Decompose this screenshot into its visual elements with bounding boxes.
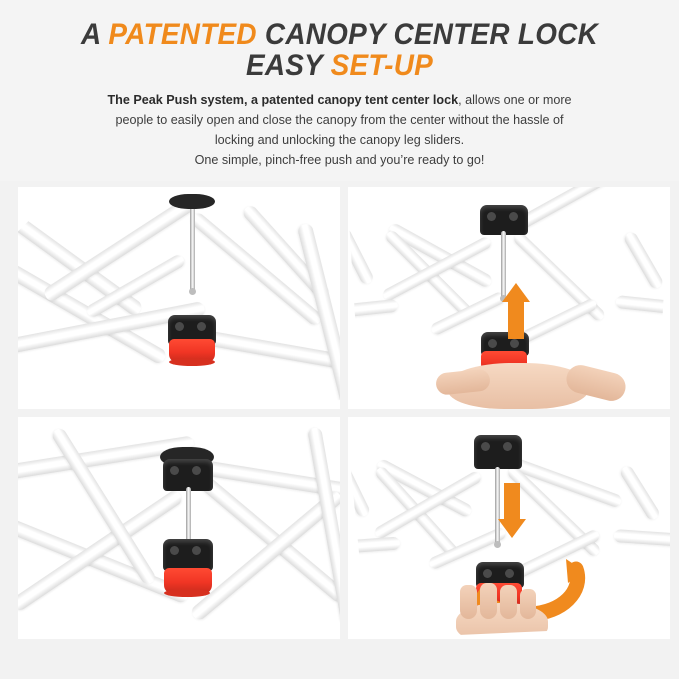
product-photo-grid [0, 181, 679, 679]
page-title: A PATENTED CANOPY CENTER LOCK EASY SET-U… [24, 0, 655, 81]
canopy-frame-scene-3 [18, 417, 340, 639]
hand-finger [460, 585, 477, 619]
headline-line1-highlight: PATENTED [108, 18, 256, 51]
frame-tube [429, 291, 506, 337]
description-line-2: people to easily open and close the cano… [38, 110, 641, 130]
canopy-frame-scene-2 [348, 187, 670, 409]
headline-line1-part1: A [81, 18, 108, 51]
headline-line2-part1: EASY [246, 49, 331, 82]
arrow-up-icon [502, 283, 542, 339]
description-bold-lead: The Peak Push system, a patented canopy … [107, 93, 458, 107]
description-line1-rest: , allows one or more [458, 93, 571, 107]
headline-line1-part2: CANOPY CENTER LOCK [257, 18, 598, 51]
pole-top-cap [169, 194, 215, 209]
frame-tube [348, 537, 400, 554]
panel-bottom-left-photo [18, 417, 340, 639]
hand-finger [520, 589, 536, 619]
panel-top-right-photo [348, 187, 670, 409]
canopy-frame-scene-1 [18, 187, 340, 409]
panel-bottom-left [18, 417, 340, 639]
description-line-1: The Peak Push system, a patented canopy … [38, 90, 641, 110]
panel-top-right [348, 187, 670, 409]
frame-tube [615, 295, 670, 315]
center-lock-red-base [169, 339, 215, 363]
panel-top-left-photo [18, 187, 340, 409]
description-text: The Peak Push system, a patented canopy … [0, 90, 679, 170]
description-line-3: locking and unlocking the canopy leg sli… [38, 130, 641, 150]
slider-pole-tip [494, 541, 501, 548]
center-lock-hub-top [474, 435, 522, 469]
canopy-frame-scene-4 [348, 417, 670, 639]
hand-finger [480, 583, 497, 619]
frame-tube [622, 230, 664, 290]
slider-pole-tip [189, 288, 196, 295]
product-feature-page: A PATENTED CANOPY CENTER LOCK EASY SET-U… [0, 0, 679, 679]
frame-tube [18, 202, 144, 317]
panel-bottom-right-photo [348, 417, 670, 639]
frame-tube [618, 464, 661, 522]
panel-top-left [18, 187, 340, 409]
headline-line2-highlight: SET-UP [331, 49, 433, 82]
arrow-down-icon [498, 483, 538, 539]
headline-line-2: EASY SET-UP [24, 50, 655, 81]
center-lock-hub-bottom [163, 539, 213, 571]
slider-pole [190, 203, 195, 293]
frame-tube [348, 299, 398, 318]
frame-tube [614, 529, 670, 547]
description-line-4: One simple, pinch-free push and you’re r… [38, 150, 641, 170]
hand-finger [500, 585, 517, 619]
headline-line-1: A PATENTED CANOPY CENTER LOCK [24, 19, 655, 50]
header-block: A PATENTED CANOPY CENTER LOCK EASY SET-U… [0, 0, 679, 181]
panel-bottom-right [348, 417, 670, 639]
center-lock-red-base [164, 568, 212, 594]
frame-tube [348, 461, 371, 519]
frame-tube [348, 227, 375, 286]
